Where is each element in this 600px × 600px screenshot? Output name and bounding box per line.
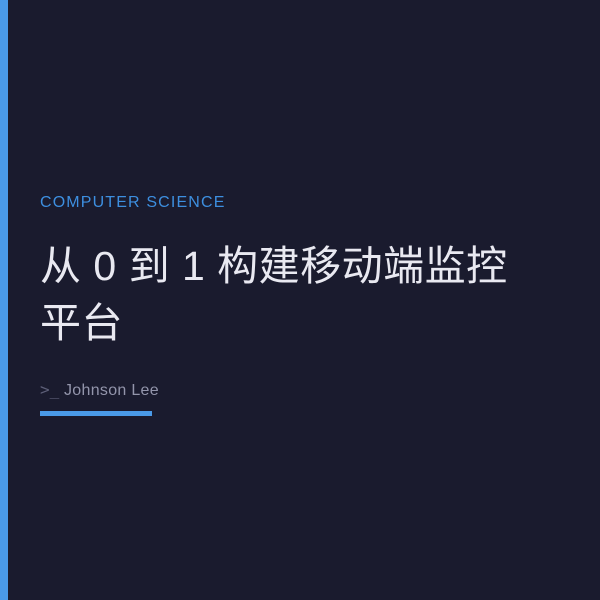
author-name: Johnson Lee	[59, 382, 159, 399]
article-cover-card: COMPUTER SCIENCE 从 0 到 1 构建移动端监控平台 >_ Jo…	[0, 0, 600, 600]
page-title: 从 0 到 1 构建移动端监控平台	[40, 238, 530, 352]
cover-content: COMPUTER SCIENCE 从 0 到 1 构建移动端监控平台 >_ Jo…	[40, 192, 560, 416]
category-label: COMPUTER SCIENCE	[40, 192, 560, 214]
left-accent-bar	[0, 0, 8, 600]
terminal-prompt-icon: >_	[40, 380, 59, 399]
byline-underline-rule	[40, 411, 152, 416]
byline: >_ Johnson Lee	[40, 380, 560, 401]
